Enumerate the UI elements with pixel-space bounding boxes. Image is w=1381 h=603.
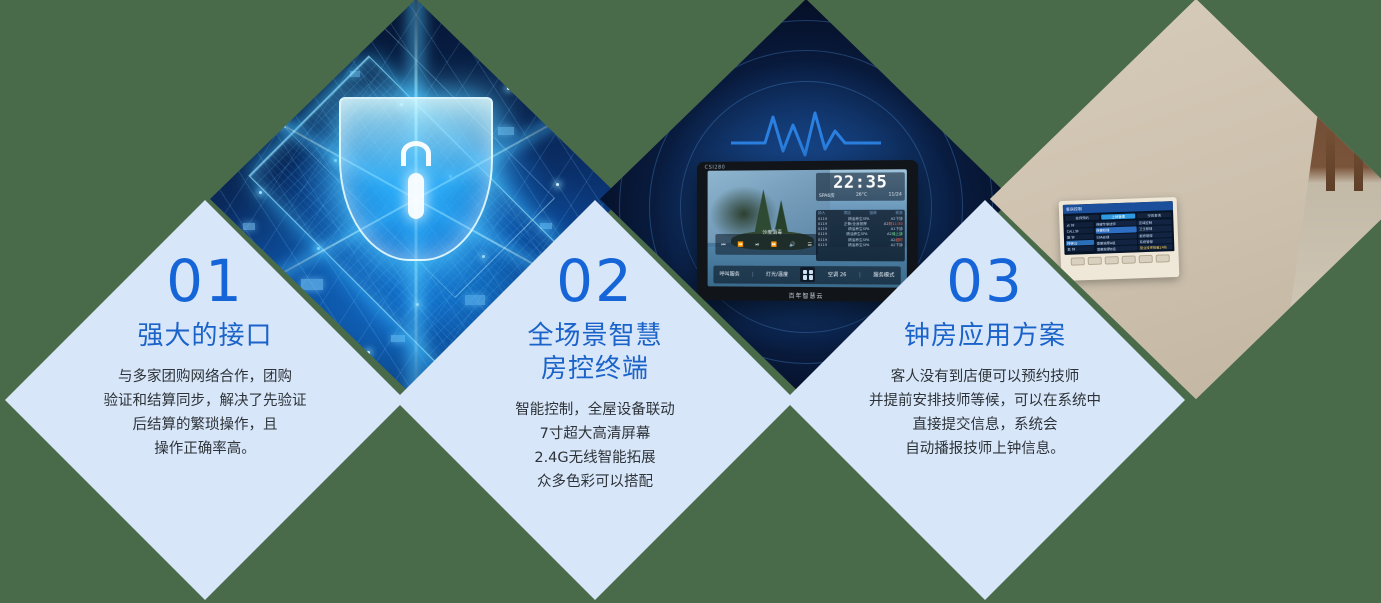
media-play-icon[interactable]: ⏯	[755, 242, 759, 248]
room-table-cell: 下钟	[895, 243, 902, 248]
description-line: 智能控制，全屋设备联动	[430, 398, 760, 422]
media-next-icon[interactable]: ⏩	[771, 242, 777, 248]
media-more-icon[interactable]: ☰	[807, 242, 811, 248]
panel-right-item[interactable]: 香薰按摩B组	[1096, 245, 1138, 252]
tablet-device: CSI280 22:35 SPA6房 26°C 11/24	[697, 160, 918, 302]
panel-tab[interactable]: 空房查询	[1137, 212, 1171, 218]
room-table-header-cell: 技师	[869, 211, 876, 216]
media-prev-icon[interactable]: ⏮	[721, 242, 725, 248]
room-table-header-cell: 钟人	[818, 211, 825, 216]
feature-card-2-title: 全场景智慧房控终端	[430, 320, 760, 386]
panel-left-menu[interactable]: 点 钟CALL钟圈 钟排钟台直 钟	[1065, 222, 1094, 253]
panel-hardware-buttons[interactable]	[1065, 254, 1175, 266]
feature-card-1-title: 强大的接口	[40, 320, 370, 353]
description-line: 验证和结算同步，解决了先验证	[40, 389, 370, 413]
title-line: 房控终端	[430, 353, 760, 386]
description-line: 2.4G无线智能拓展	[430, 446, 760, 470]
panel-button-5[interactable]	[1138, 255, 1152, 263]
media-controls[interactable]: ⏮ ⏪ ⏯ ⏩ 🔊 ☰	[715, 234, 818, 255]
media-volume-icon[interactable]: 🔊	[789, 242, 795, 248]
room-table-header-cell: 项目	[844, 211, 851, 216]
description-line: 与多家团购网络合作，团购	[40, 365, 370, 389]
feature-diamond-banner: CSI280 22:35 SPA6房 26°C 11/24	[0, 0, 1381, 603]
title-line: 强大的接口	[40, 320, 370, 353]
tablet-logo-label: 百年智慧云	[789, 291, 824, 300]
media-rewind-icon[interactable]: ⏪	[737, 242, 743, 248]
room-table-cell: 精油养生SPA	[827, 243, 890, 248]
description-line: 自动播报技师上钟信息。	[820, 437, 1150, 461]
room-table-row[interactable]: 0119精油养生SPAA2下钟	[818, 243, 903, 248]
room-table-header-cell: 状态	[895, 211, 902, 216]
panel-tab[interactable]: 技师预约	[1065, 214, 1099, 220]
room-table-cell: 0119	[818, 243, 827, 248]
wall-control-panel[interactable]: 客房控制 技师预约上钟管理空房查询 点 钟CALL钟圈 钟排钟台直 钟 保健专享…	[1059, 197, 1180, 281]
panel-button-3[interactable]	[1104, 256, 1118, 264]
panel-body: 点 钟CALL钟圈 钟排钟台直 钟 保健专享技师区域控制保健经理卫生管理SPA经…	[1063, 218, 1174, 255]
panel-button-2[interactable]	[1087, 257, 1101, 265]
description-line: 后结算的繁琐操作，且	[40, 413, 370, 437]
description-line: 操作正确率高。	[40, 437, 370, 461]
panel-left-item[interactable]: 直 钟	[1066, 246, 1094, 252]
panel-right-item[interactable]: 保健经理	[1095, 227, 1137, 234]
screen-room-table[interactable]: 钟人项目技师状态0119精油养生SPAA2下钟0119正骨/全身按摩A2剩11:…	[816, 210, 905, 262]
description-line: 众多色彩可以搭配	[430, 470, 760, 494]
panel-button-6[interactable]	[1155, 255, 1169, 263]
clock-temp: 26°C	[856, 193, 867, 199]
description-line: 直接提交信息，系统会	[820, 413, 1150, 437]
clock-date: 11/24	[889, 193, 902, 199]
screen-taskbar[interactable]: 呼叫服务|灯光/温度空调 26|服务模式	[713, 266, 900, 285]
panel-right-item[interactable]: 报修管理	[1138, 232, 1172, 238]
feature-card-3-title: 钟房应用方案	[820, 320, 1150, 353]
panel-right-item[interactable]: 营业技师数量24名	[1139, 244, 1173, 250]
taskbar-item[interactable]: 呼叫服务	[719, 271, 739, 278]
taskbar-item[interactable]: 服务模式	[873, 272, 894, 279]
taskbar-item[interactable]: 空调 26	[828, 271, 847, 278]
feature-card-3-description: 客人没有到店便可以预约技师并提前安排技师等候，可以在系统中直接提交信息，系统会自…	[820, 365, 1150, 461]
panel-button-1[interactable]	[1070, 258, 1084, 266]
panel-tab[interactable]: 上钟管理	[1101, 213, 1135, 219]
title-line: 全场景智慧	[430, 320, 760, 353]
panel-right-item[interactable]: 卫生管理	[1138, 225, 1172, 231]
description-line: 并提前安排技师等候，可以在系统中	[820, 389, 1150, 413]
taskbar-item[interactable]: 灯光/温度	[766, 271, 788, 278]
screen-clock-widget: 22:35 SPA6房 26°C 11/24	[816, 172, 905, 201]
panel-left-item[interactable]: 点 钟	[1065, 222, 1093, 228]
tablet-screen: 22:35 SPA6房 26°C 11/24 钟人项目技师状态0119精油养生S…	[708, 169, 907, 287]
home-grid-icon[interactable]	[800, 267, 815, 282]
description-line: 客人没有到店便可以预约技师	[820, 365, 1150, 389]
taskbar-separator: |	[752, 271, 754, 277]
panel-right-grid[interactable]: 保健专享技师区域控制保健经理卫生管理SPA经理报修管理香薰按摩A组系统管理香薰按…	[1095, 219, 1172, 252]
clock-time: 22:35	[819, 174, 902, 192]
screen-wallpaper-tree-1	[755, 189, 773, 233]
taskbar-separator: |	[859, 272, 861, 278]
panel-screen: 客房控制 技师预约上钟管理空房查询 点 钟CALL钟圈 钟排钟台直 钟 保健专享…	[1063, 201, 1175, 255]
heartbeat-icon	[731, 103, 881, 163]
feature-card-2-description: 智能控制，全屋设备联动7寸超大高清屏幕2.4G无线智能拓展众多色彩可以搭配	[430, 398, 760, 494]
description-line: 7寸超大高清屏幕	[430, 422, 760, 446]
panel-button-4[interactable]	[1121, 256, 1135, 264]
panel-left-item[interactable]: CALL钟	[1066, 228, 1094, 234]
clock-room: SPA6房	[819, 193, 835, 199]
feature-card-1-description: 与多家团购网络合作，团购验证和结算同步，解决了先验证后结算的繁琐操作，且操作正确…	[40, 365, 370, 461]
panel-left-item[interactable]: 排钟台	[1066, 240, 1094, 246]
title-line: 钟房应用方案	[820, 320, 1150, 353]
clock-meta: SPA6房 26°C 11/24	[819, 193, 902, 199]
panel-left-item[interactable]: 圈 钟	[1066, 234, 1094, 240]
